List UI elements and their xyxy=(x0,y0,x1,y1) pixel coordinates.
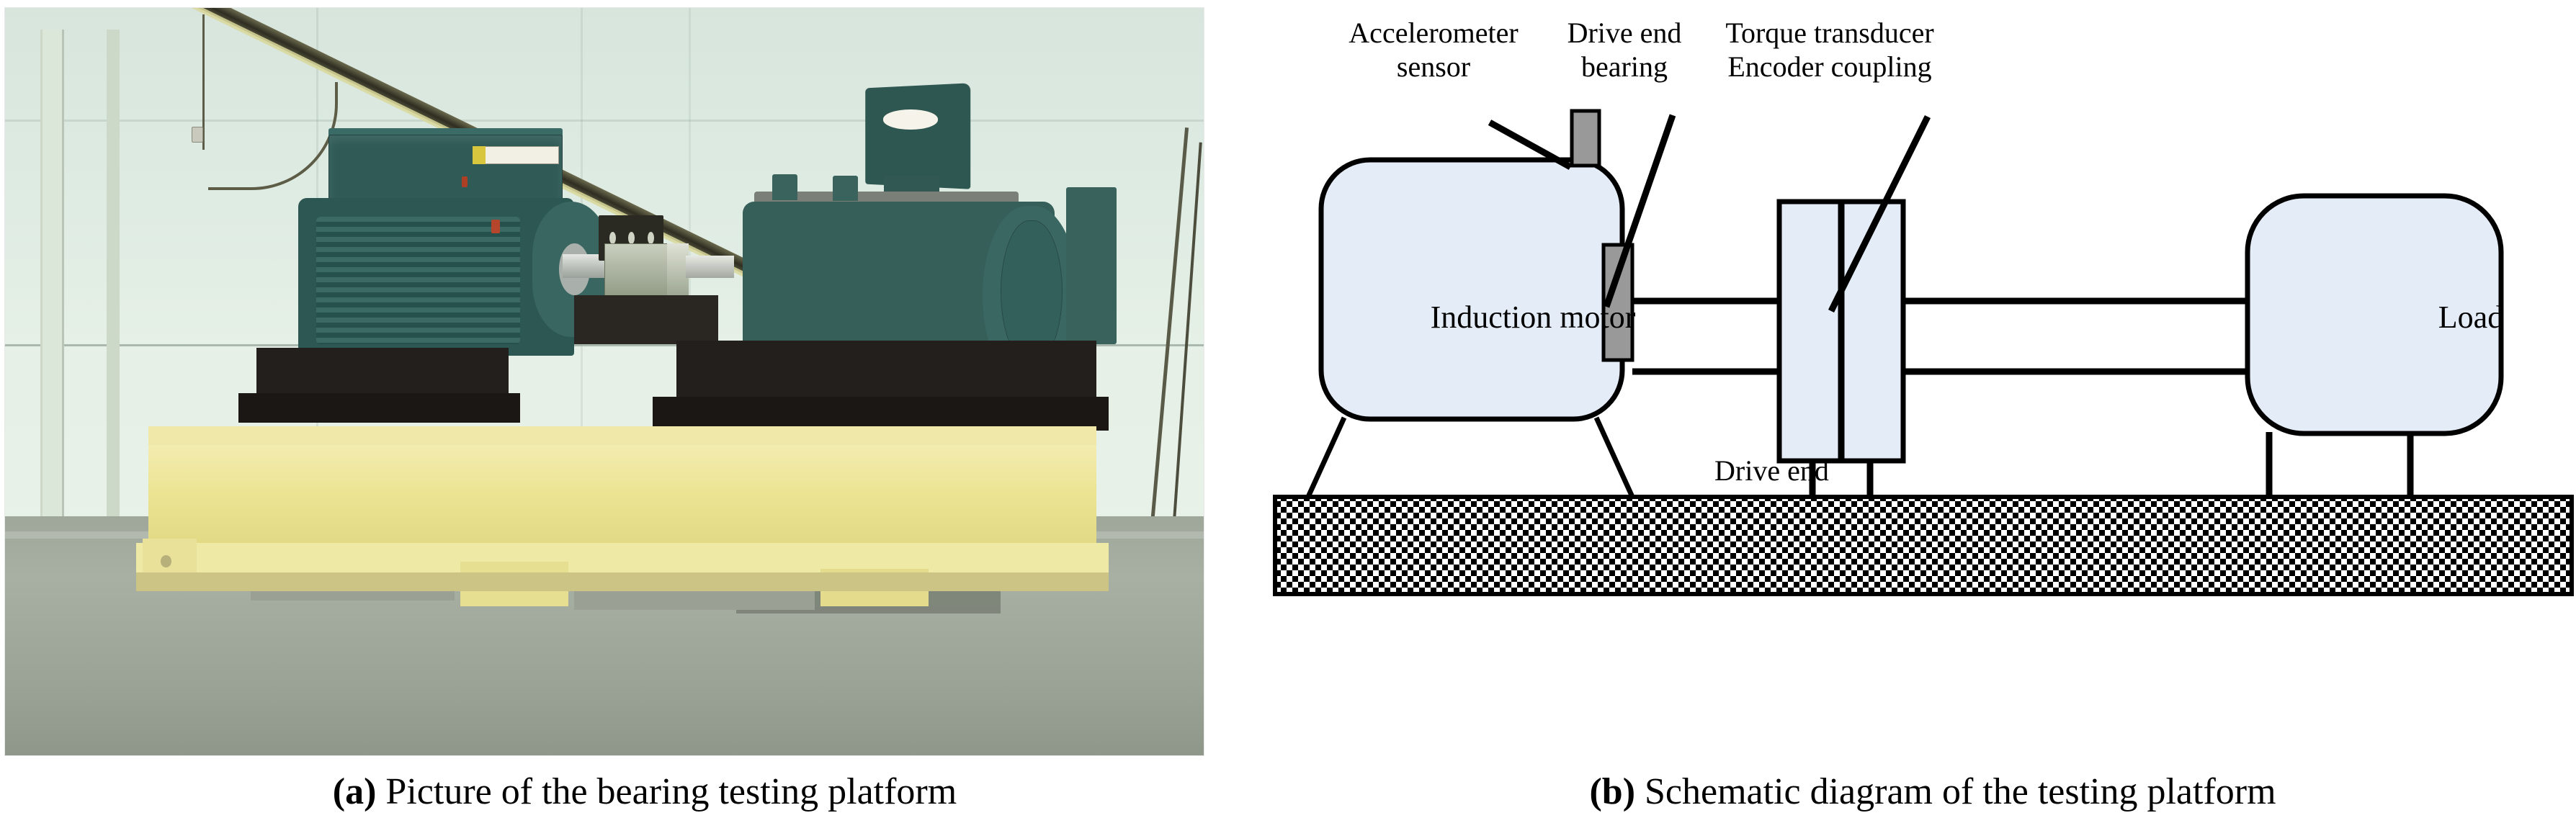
caption-a-text: Picture of the bearing testing platform xyxy=(376,771,957,812)
label-torque-transducer-line1: Torque transducer xyxy=(1678,16,1981,50)
caption-a-tag: (a) xyxy=(333,771,377,812)
caption-panel-a: (a) Picture of the bearing testing platf… xyxy=(0,770,1289,813)
label-drive-end: Drive end xyxy=(1714,454,1902,487)
torque-transducer-encoder-coupling xyxy=(1779,202,1903,461)
schematic-drawing xyxy=(1246,0,2576,756)
ground-foundation xyxy=(1275,497,2572,594)
label-torque-transducer-line2: Encoder coupling xyxy=(1678,50,1981,84)
label-torque-transducer-encoder-coupling: Torque transducer Encoder coupling xyxy=(1678,16,1981,84)
label-accelerometer-line2: sensor xyxy=(1325,50,1542,84)
shaft-coupling-to-load xyxy=(1903,301,2248,372)
label-accelerometer-line1: Accelerometer xyxy=(1325,16,1542,50)
accelerometer-sensor-block xyxy=(1572,111,1599,166)
induction-motor-block xyxy=(1321,160,1622,419)
photo-border xyxy=(4,7,1204,756)
caption-b-tag: (b) xyxy=(1589,771,1635,812)
induction-motor-label: Induction motor xyxy=(1331,299,1735,336)
load-legs xyxy=(2269,432,2410,497)
caption-b-text: Schematic diagram of the testing platfor… xyxy=(1635,771,2276,812)
panel-b-schematic: Accelerometer sensor Drive end bearing T… xyxy=(1246,0,2576,756)
bearing-test-rig-photograph xyxy=(4,7,1204,756)
caption-panel-b: (b) Schematic diagram of the testing pla… xyxy=(1289,770,2576,813)
panel-a-photo xyxy=(4,7,1204,756)
induction-motor-legs xyxy=(1308,418,1632,497)
label-accelerometer-sensor: Accelerometer sensor xyxy=(1325,16,1542,84)
load-label: Load xyxy=(2370,299,2572,336)
figure-root: Accelerometer sensor Drive end bearing T… xyxy=(0,0,2576,836)
